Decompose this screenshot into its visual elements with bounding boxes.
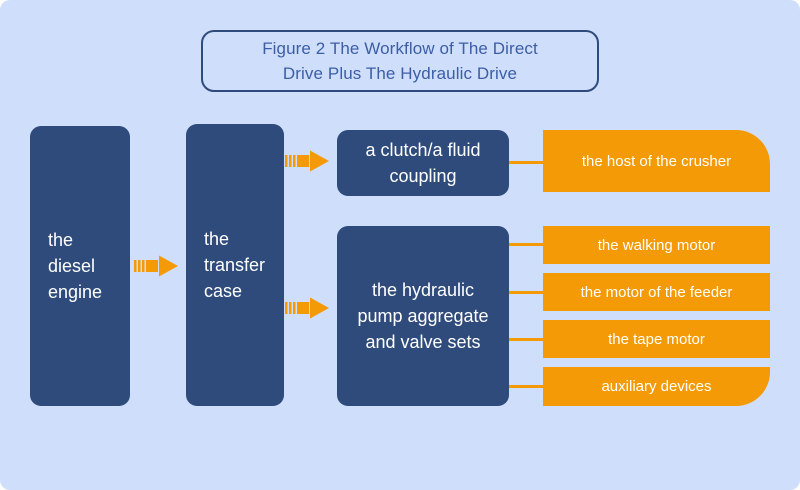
line: a clutch/a fluid (365, 140, 480, 160)
node-transfer-case-label: the transfer case (186, 226, 284, 304)
node-diesel-engine-label: the diesel engine (30, 227, 130, 305)
connector-hydraulic-to-auxiliary-devices (509, 385, 545, 388)
figure-title: Figure 2 The Workflow of The Direct Driv… (201, 30, 599, 92)
node-walking-motor-label: the walking motor (598, 237, 716, 254)
node-transfer-case[interactable]: the transfer case (186, 124, 284, 406)
line: the (204, 229, 229, 249)
striped-arrow-right-icon (285, 150, 329, 172)
node-clutch-fluid-coupling[interactable]: a clutch/a fluid coupling (337, 130, 509, 196)
connector-hydraulic-to-tape-motor (509, 338, 545, 341)
connector-hydraulic-to-walking-motor (509, 243, 545, 246)
node-hydraulic-pump-aggregate-label: the hydraulic pump aggregate and valve s… (337, 277, 509, 355)
node-host-of-crusher-label: the host of the crusher (582, 153, 731, 170)
node-host-of-crusher[interactable]: the host of the crusher (543, 130, 770, 192)
node-motor-of-feeder-label: the motor of the feeder (581, 284, 733, 301)
figure-title-line-1: Figure 2 The Workflow of The Direct (262, 36, 538, 61)
line: and valve sets (365, 332, 480, 352)
node-tape-motor[interactable]: the tape motor (543, 320, 770, 358)
striped-arrow-right-icon (134, 255, 178, 277)
connector-clutch-to-host (509, 161, 545, 164)
line: diesel (48, 256, 95, 276)
diagram-canvas: Figure 2 The Workflow of The Direct Driv… (0, 0, 800, 490)
node-auxiliary-devices[interactable]: auxiliary devices (543, 367, 770, 406)
line: the hydraulic (372, 280, 474, 300)
figure-title-line-2: Drive Plus The Hydraulic Drive (262, 61, 538, 86)
line: pump aggregate (357, 306, 488, 326)
line: case (204, 281, 242, 301)
line: engine (48, 282, 102, 302)
line: the (48, 230, 73, 250)
node-clutch-fluid-coupling-label: a clutch/a fluid coupling (337, 137, 509, 189)
node-diesel-engine[interactable]: the diesel engine (30, 126, 130, 406)
line: transfer (204, 255, 265, 275)
node-tape-motor-label: the tape motor (608, 331, 705, 348)
node-walking-motor[interactable]: the walking motor (543, 226, 770, 264)
figure-title-text: Figure 2 The Workflow of The Direct Driv… (262, 36, 538, 86)
connector-hydraulic-to-feeder-motor (509, 291, 545, 294)
line: coupling (389, 166, 456, 186)
node-hydraulic-pump-aggregate[interactable]: the hydraulic pump aggregate and valve s… (337, 226, 509, 406)
node-motor-of-feeder[interactable]: the motor of the feeder (543, 273, 770, 311)
node-auxiliary-devices-label: auxiliary devices (601, 378, 711, 395)
striped-arrow-right-icon (285, 297, 329, 319)
